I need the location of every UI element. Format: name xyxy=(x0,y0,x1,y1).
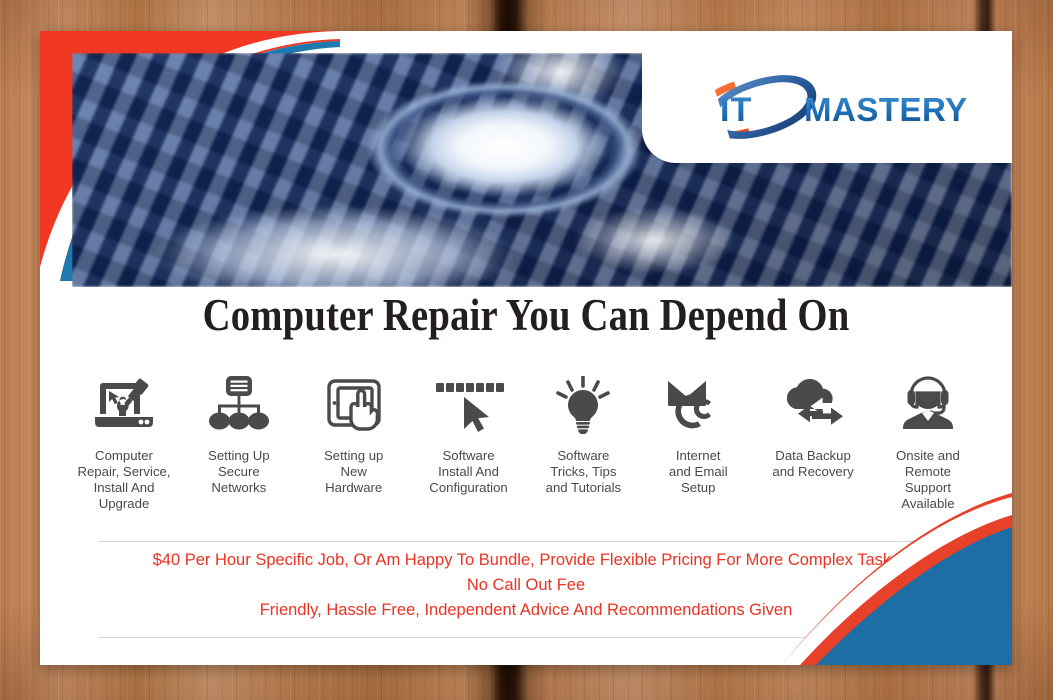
promo-line-advice: Friendly, Hassle Free, Independent Advic… xyxy=(70,598,982,623)
service-item-new-hardware[interactable]: Setting up New Hardware xyxy=(298,373,410,496)
envelope-at-sign-icon xyxy=(667,373,729,437)
service-label: Onsite and Remote Support Available xyxy=(896,448,960,512)
tablet-touch-hand-icon xyxy=(325,373,383,437)
service-item-software-install[interactable]: Software Install And Configuration xyxy=(413,373,525,496)
service-label: Software Tricks, Tips and Tutorials xyxy=(546,448,622,496)
divider-top xyxy=(98,541,998,542)
promo-line-pricing: $40 Per Hour Specific Job, Or Am Happy T… xyxy=(70,548,982,573)
logo-it-text: IT xyxy=(720,91,752,129)
service-label: Software Install And Configuration xyxy=(429,448,507,496)
service-label: Internet and Email Setup xyxy=(669,448,728,496)
headset-support-agent-icon xyxy=(899,373,957,437)
service-label: Setting Up Secure Networks xyxy=(208,448,270,496)
service-label: Setting up New Hardware xyxy=(324,448,383,496)
services-row: Computer Repair, Service, Install And Up… xyxy=(68,373,984,512)
promo-line-callout: No Call Out Fee xyxy=(70,573,982,598)
flyer-card: IT MASTERY Computer Repair You Can Depen… xyxy=(40,31,1012,665)
service-item-secure-networks[interactable]: Setting Up Secure Networks xyxy=(183,373,295,496)
lightbulb-idea-icon xyxy=(555,373,611,437)
hero-photo: IT MASTERY xyxy=(72,53,1012,287)
it-mastery-logo-svg: IT MASTERY xyxy=(684,73,994,143)
logo: IT MASTERY xyxy=(684,73,994,143)
service-item-software-tips[interactable]: Software Tricks, Tips and Tutorials xyxy=(527,373,639,496)
laptop-repair-tools-icon xyxy=(93,373,155,437)
promo-block: $40 Per Hour Specific Job, Or Am Happy T… xyxy=(70,548,982,623)
service-label: Data Backup and Recovery xyxy=(772,448,853,480)
cloud-backup-arrows-icon xyxy=(779,373,847,437)
logo-mastery-text: MASTERY xyxy=(804,91,968,128)
network-hierarchy-icon xyxy=(208,373,270,437)
service-item-internet-email[interactable]: Internet and Email Setup xyxy=(642,373,754,496)
progress-bar-cursor-icon xyxy=(434,373,504,437)
service-item-onsite-remote-support[interactable]: Onsite and Remote Support Available xyxy=(872,373,984,512)
divider-bottom xyxy=(98,637,998,638)
poster-background: IT MASTERY Computer Repair You Can Depen… xyxy=(0,0,1053,700)
service-label: Computer Repair, Service, Install And Up… xyxy=(77,448,170,512)
service-item-data-backup[interactable]: Data Backup and Recovery xyxy=(757,373,869,480)
service-item-computer-repair[interactable]: Computer Repair, Service, Install And Up… xyxy=(68,373,180,512)
page-title: Computer Repair You Can Depend On xyxy=(108,289,944,341)
